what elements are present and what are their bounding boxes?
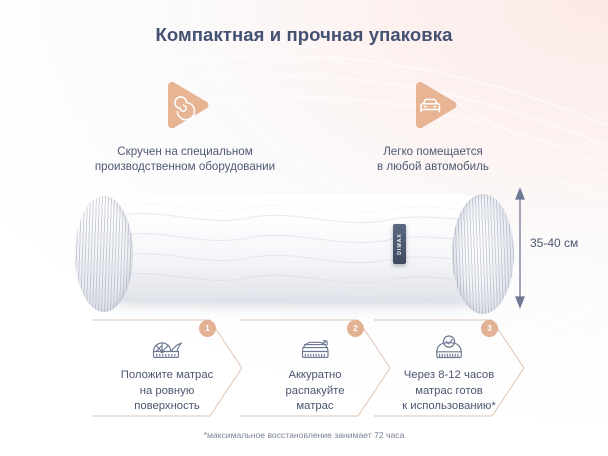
mattress-check-icon	[374, 330, 524, 364]
footnote: *максимальное восстановление занимает 72…	[0, 430, 608, 440]
step-badge: 1	[199, 320, 216, 337]
brand-tag-label: DIMAX	[397, 224, 403, 264]
rolled-mattress-photo: DIMAX	[38, 188, 508, 313]
mattress-roll-left-end	[75, 196, 133, 312]
infographic-canvas: Компактная и прочная упаковка Скручен на…	[0, 0, 608, 456]
step-card-3: Через 8-12 часов матрас готов к использо…	[374, 318, 524, 418]
car-icon	[404, 78, 462, 136]
step-card-1: Положите матрас на ровную поверхность 1	[92, 318, 242, 418]
feature-label: Легко помещается в любой автомобиль	[318, 144, 548, 174]
spiral-roll-icon	[156, 78, 214, 136]
mattress-roll-right-end	[452, 194, 514, 314]
mattress-unrolling-icon	[92, 330, 242, 364]
mattress-unpack-icon	[240, 330, 390, 364]
step-card-2: Аккуратно распакуйте матрас 2	[240, 318, 390, 418]
features-row: Скручен на специальном производственном …	[0, 78, 608, 178]
feature-item-car: Легко помещается в любой автомобиль	[318, 78, 548, 174]
dimension-label: 35-40 см	[530, 236, 578, 250]
step-label: Положите матрас на ровную поверхность	[92, 368, 242, 415]
page-title: Компактная и прочная упаковка	[0, 24, 608, 46]
steps-row: Положите матрас на ровную поверхность 1	[92, 318, 522, 418]
step-label: Через 8-12 часов матрас готов к использо…	[374, 368, 524, 415]
quilt-pattern	[78, 194, 508, 302]
mattress-roll-body: DIMAX	[78, 194, 508, 302]
step-badge: 3	[481, 320, 498, 337]
brand-tag: DIMAX	[393, 224, 406, 264]
feature-label: Скручен на специальном производственном …	[60, 144, 310, 174]
step-label: Аккуратно распакуйте матрас	[240, 368, 390, 415]
dimension-indicator: 35-40 см	[508, 186, 604, 310]
feature-item-spiral: Скручен на специальном производственном …	[60, 78, 310, 174]
step-badge: 2	[347, 320, 364, 337]
